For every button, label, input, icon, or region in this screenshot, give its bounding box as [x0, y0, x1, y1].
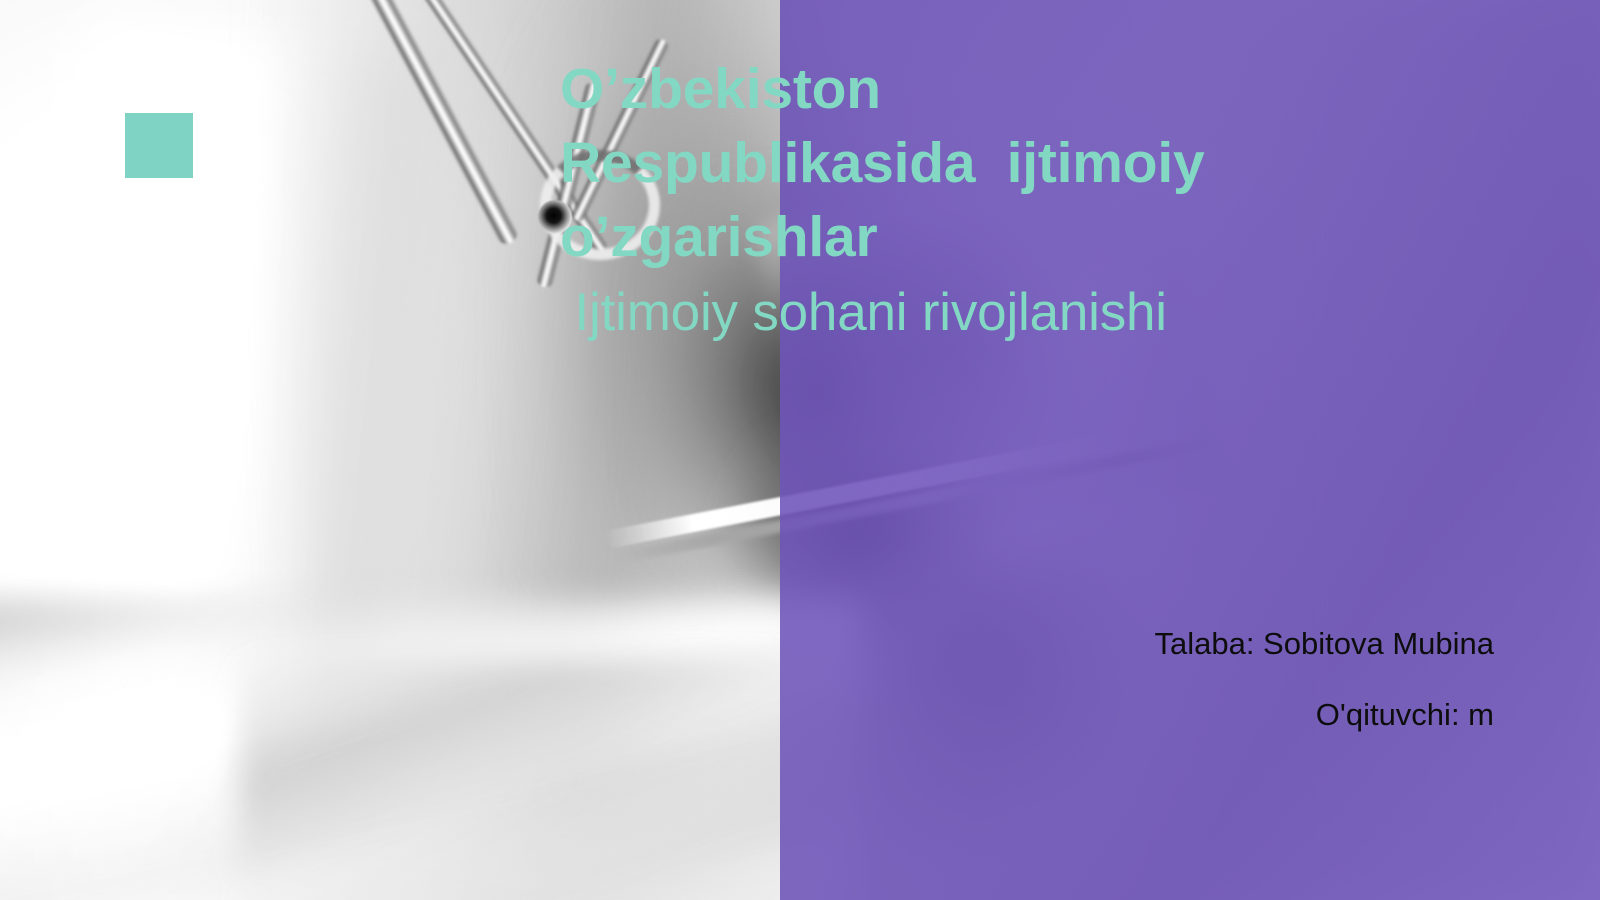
credit-student: Talaba: Sobitova Mubina — [874, 624, 1494, 664]
title-line-1: O’zbekiston — [560, 52, 1360, 126]
title-block: O’zbekiston Respublikasida ijtimoiy o’zg… — [560, 52, 1360, 349]
credits-block: Talaba: Sobitova Mubina O'qituvchi: m — [874, 624, 1494, 735]
subtitle-line: Ijtimoiy sohani rivojlanishi — [560, 277, 1360, 349]
title-line-2: Respublikasida ijtimoiy — [560, 126, 1360, 200]
accent-square — [125, 113, 193, 178]
title-line-3: o’zgarishlar — [560, 200, 1360, 274]
credit-teacher: O'qituvchi: m — [874, 695, 1494, 735]
title-slide: O’zbekiston Respublikasida ijtimoiy o’zg… — [0, 0, 1600, 900]
